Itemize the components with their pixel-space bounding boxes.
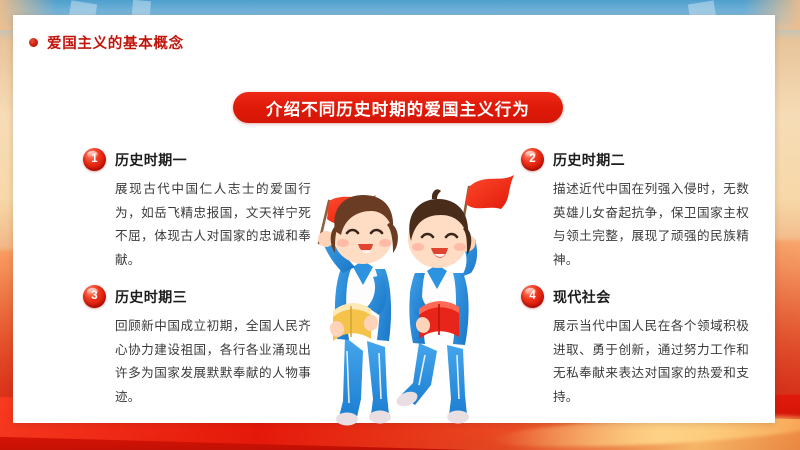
content-card: 爱国主义的基本概念 介绍不同历史时期的爱国主义行为 1 历史时期一 展现古代中国…: [13, 15, 775, 423]
slide-canvas: 爱国主义的基本概念 介绍不同历史时期的爱国主义行为 1 历史时期一 展现古代中国…: [0, 0, 800, 450]
student-girl-figure: [318, 195, 398, 426]
block-body: 展示当代中国人民在各个领域积极进取、勇于创新，通过努力工作和无私奉献来表达对国家…: [521, 315, 749, 409]
bullet-dot-icon: [29, 38, 38, 47]
badge-number: 4: [529, 291, 535, 303]
slide-header: 爱国主义的基本概念: [29, 32, 184, 53]
block-header: 1 历史时期一: [83, 148, 311, 171]
block-title: 现代社会: [553, 287, 611, 307]
block-header: 2 历史时期二: [521, 148, 749, 171]
block-title: 历史时期一: [115, 150, 187, 170]
content-block-4: 4 现代社会 展示当代中国人民在各个领域积极进取、勇于创新，通过努力工作和无私奉…: [521, 285, 749, 409]
badge-number: 1: [91, 154, 97, 166]
content-block-2: 2 历史时期二 描述近代中国在列强入侵时，无数英雄儿女奋起抗争，保卫国家主权与领…: [521, 148, 749, 272]
title-banner: 介绍不同历史时期的爱国主义行为: [233, 92, 563, 123]
block-title: 历史时期二: [553, 150, 625, 170]
header-title: 爱国主义的基本概念: [47, 32, 184, 53]
block-body: 展现古代中国仁人志士的爱国行为，如岳飞精忠报国，文天祥宁死不屈，体现古人对国家的…: [83, 178, 311, 272]
student-boy-figure: [394, 189, 477, 423]
content-block-3: 3 历史时期三 回顾新中国成立初期，全国人民齐心协力建设祖国，各行各业涌现出许多…: [83, 285, 311, 409]
block-title: 历史时期三: [115, 287, 187, 307]
block-header: 4 现代社会: [521, 285, 749, 308]
two-students-with-red-flags-illustration: [301, 151, 531, 426]
number-badge-3: 3: [83, 285, 106, 308]
block-body: 回顾新中国成立初期，全国人民齐心协力建设祖国，各行各业涌现出许多为国家发展默默奉…: [83, 315, 311, 409]
number-badge-1: 1: [83, 148, 106, 171]
block-header: 3 历史时期三: [83, 285, 311, 308]
title-banner-text: 介绍不同历史时期的爱国主义行为: [266, 96, 530, 120]
block-body: 描述近代中国在列强入侵时，无数英雄儿女奋起抗争，保卫国家主权与领土完整，展现了顽…: [521, 178, 749, 272]
badge-number: 2: [529, 154, 535, 166]
content-block-1: 1 历史时期一 展现古代中国仁人志士的爱国行为，如岳飞精忠报国，文天祥宁死不屈，…: [83, 148, 311, 272]
badge-number: 3: [91, 291, 97, 303]
